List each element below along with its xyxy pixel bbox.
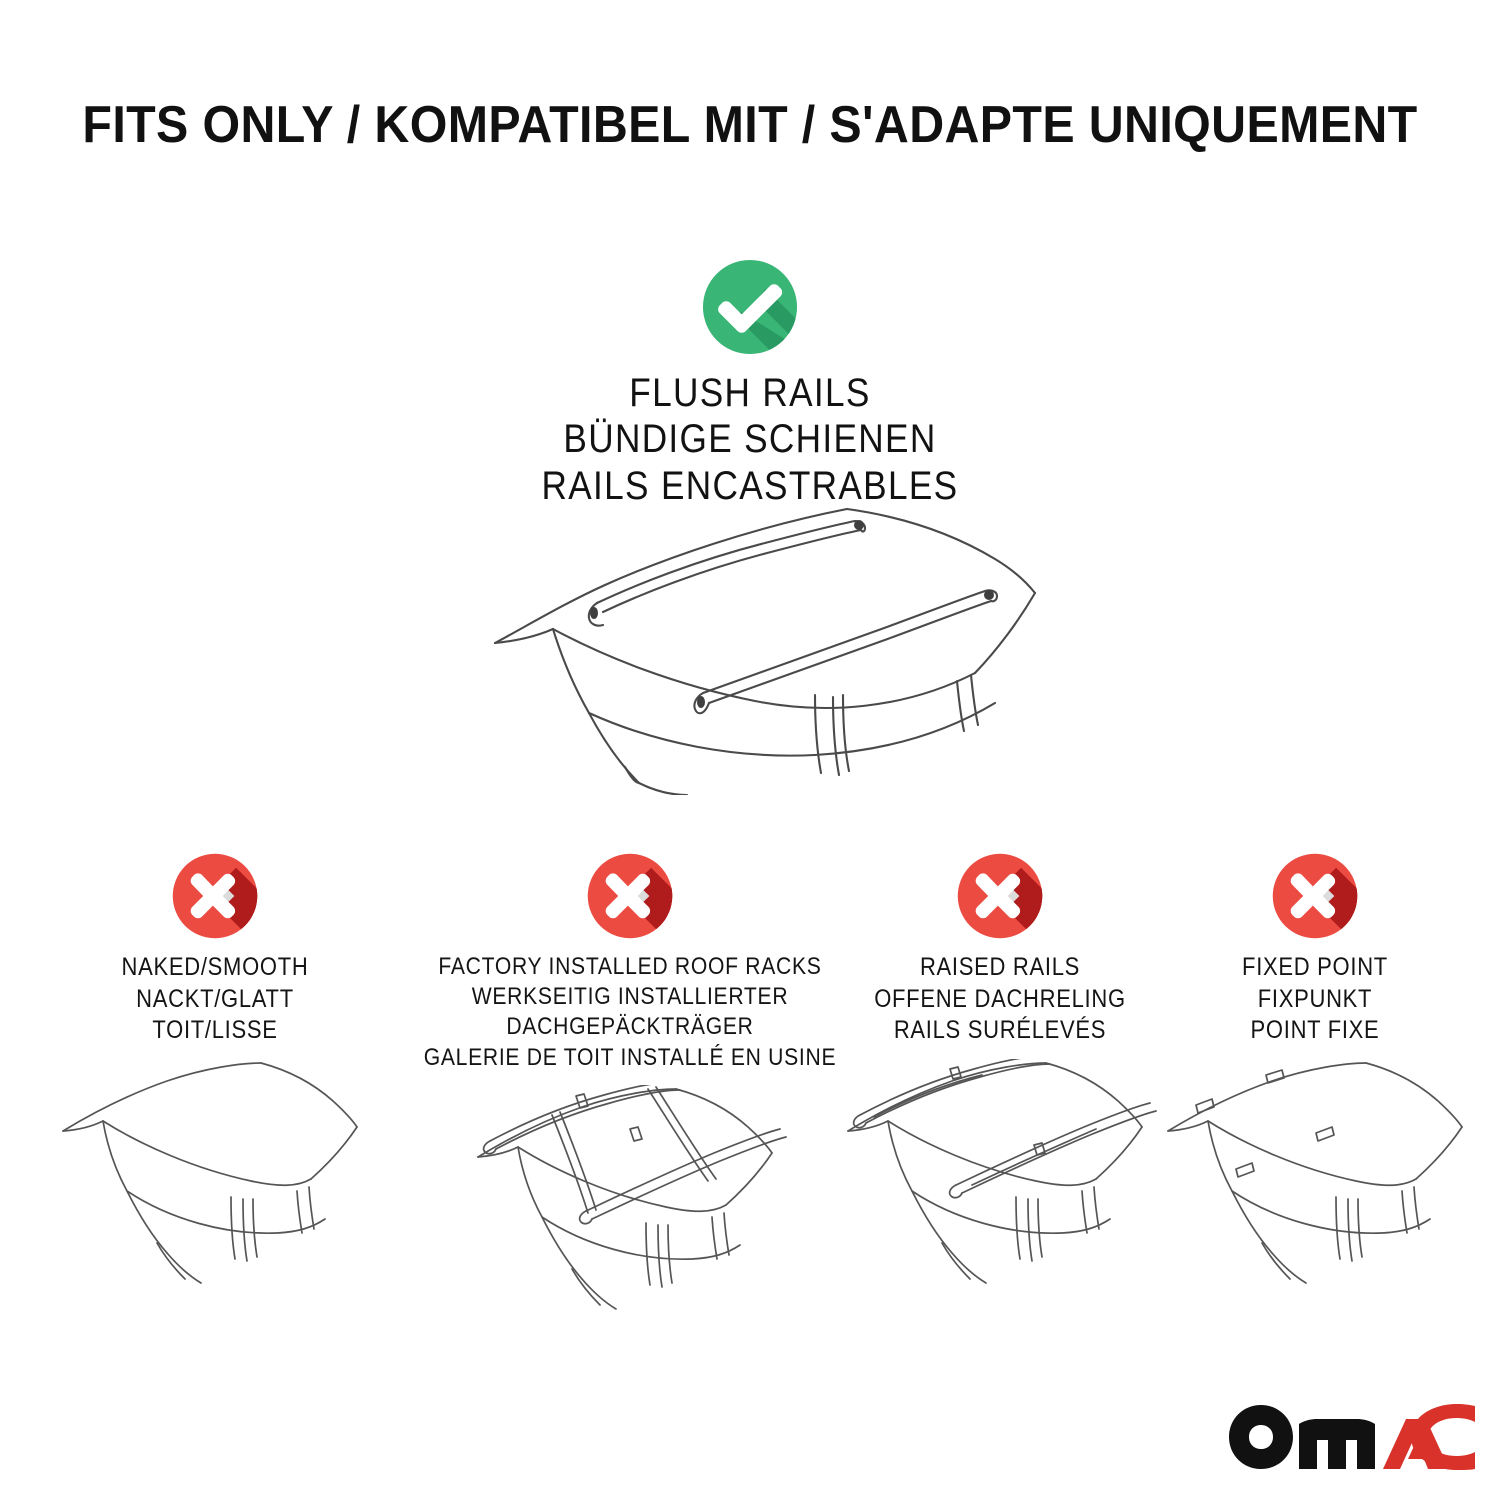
- incompatible-section: NAKED/SMOOTH NACKT/GLATT TOIT/LISSE: [0, 852, 1500, 1292]
- label-fr: TOIT/LISSE: [57, 1015, 374, 1047]
- red-cross-circle-icon: [586, 852, 674, 940]
- label-en: FIXED POINT: [1170, 952, 1460, 984]
- label-fr: RAILS SURÉLEVÉS: [850, 1015, 1149, 1047]
- compatible-labels: FLUSH RAILS BÜNDIGE SCHIENEN RAILS ENCAS…: [0, 370, 1500, 509]
- incompatible-labels-naked-smooth: NAKED/SMOOTH NACKT/GLATT TOIT/LISSE: [35, 952, 395, 1047]
- green-check-circle-icon: [701, 258, 799, 356]
- compatible-label-en: FLUSH RAILS: [90, 370, 1410, 416]
- compatible-section: FLUSH RAILS BÜNDIGE SCHIENEN RAILS ENCAS…: [0, 258, 1500, 509]
- incompatible-labels-raised-rails: RAISED RAILS OFFENE DACHRELING RAILS SUR…: [830, 952, 1170, 1047]
- label-en: NAKED/SMOOTH: [57, 952, 374, 984]
- label-de: OFFENE DACHRELING: [850, 984, 1149, 1016]
- page-title: FITS ONLY / KOMPATIBEL MIT / S'ADAPTE UN…: [53, 98, 1448, 153]
- car-roof-raised-rails-drawing: [830, 1059, 1170, 1289]
- incompatible-item-fixed-point: FIXED POINT FIXPUNKT POINT FIXE: [1150, 852, 1480, 1289]
- omac-logo: [1228, 1404, 1476, 1470]
- car-roof-factory-racks-drawing: [395, 1085, 865, 1315]
- label-en: RAISED RAILS: [850, 952, 1149, 984]
- label-de-2: DACHGEPÄCKTRÄGER: [423, 1012, 837, 1042]
- incompatible-labels-fixed-point: FIXED POINT FIXPUNKT POINT FIXE: [1150, 952, 1480, 1047]
- car-roof-flush-rails-drawing: [455, 495, 1075, 795]
- label-de: FIXPUNKT: [1170, 984, 1460, 1016]
- incompatible-item-naked-smooth: NAKED/SMOOTH NACKT/GLATT TOIT/LISSE: [35, 852, 395, 1289]
- incompatible-item-raised-rails: RAISED RAILS OFFENE DACHRELING RAILS SUR…: [830, 852, 1170, 1289]
- red-cross-circle-icon: [956, 852, 1044, 940]
- red-cross-circle-icon: [1271, 852, 1359, 940]
- car-roof-naked-smooth-drawing: [35, 1059, 395, 1289]
- red-cross-circle-icon: [171, 852, 259, 940]
- incompatible-item-factory-racks: FACTORY INSTALLED ROOF RACKS WERKSEITIG …: [395, 852, 865, 1315]
- label-fr: POINT FIXE: [1170, 1015, 1460, 1047]
- compatible-label-de: BÜNDIGE SCHIENEN: [90, 416, 1410, 462]
- label-de-1: WERKSEITIG INSTALLIERTER: [423, 982, 837, 1012]
- label-de: NACKT/GLATT: [57, 984, 374, 1016]
- label-en: FACTORY INSTALLED ROOF RACKS: [423, 952, 837, 982]
- incompatible-labels-factory-racks: FACTORY INSTALLED ROOF RACKS WERKSEITIG …: [395, 952, 865, 1073]
- car-roof-fixed-point-drawing: [1150, 1059, 1480, 1289]
- header: FITS ONLY / KOMPATIBEL MIT / S'ADAPTE UN…: [0, 98, 1500, 153]
- label-fr: GALERIE DE TOIT INSTALLÉ EN USINE: [423, 1043, 837, 1073]
